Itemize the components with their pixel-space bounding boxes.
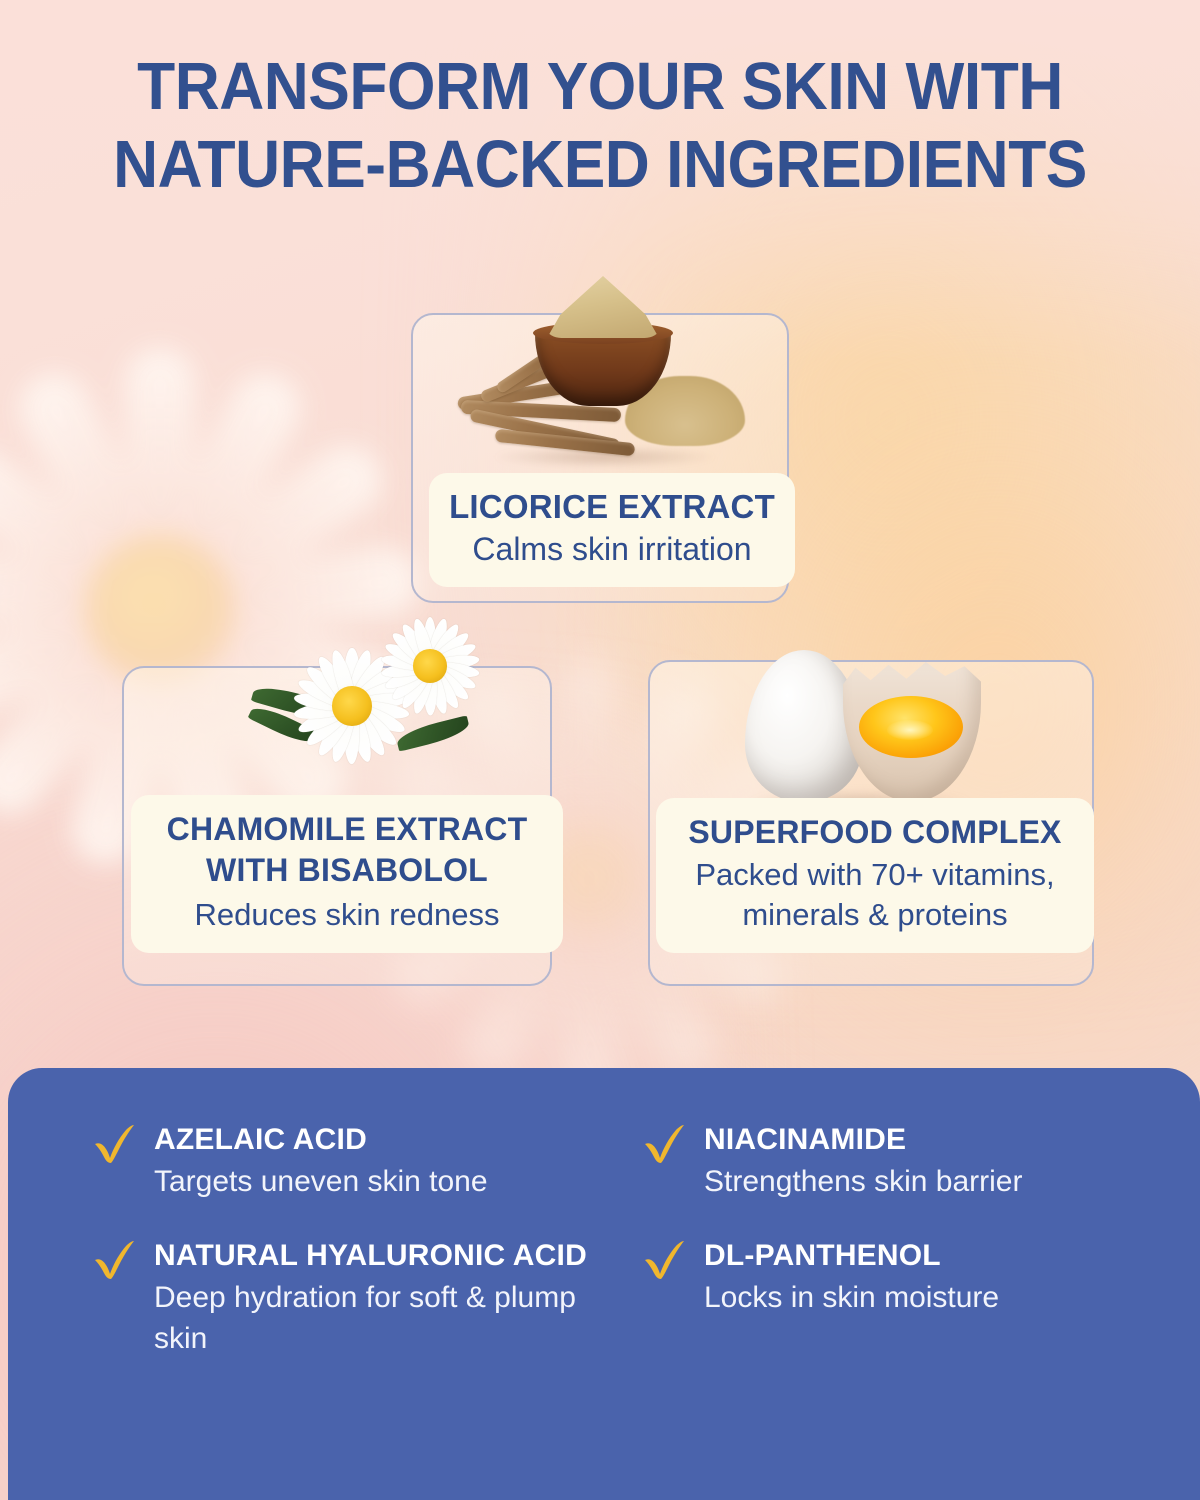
licorice-root-and-powder-image <box>455 268 745 483</box>
benefit-name: NIACINAMIDE <box>704 1120 1144 1160</box>
checkmark-icon <box>92 1124 136 1164</box>
chamomile-flowers-image <box>246 600 506 785</box>
caption-plate-chamomile: CHAMOMILE EXTRACT WITH BISABOLOL Reduces… <box>131 795 563 953</box>
infographic-root: TRANSFORM YOUR SKIN WITH NATURE-BACKED I… <box>0 0 1200 1500</box>
benefit-item-natural-hyaluronic-acid: NATURAL HYALURONIC ACID Deep hydration f… <box>92 1236 594 1359</box>
benefits-grid: AZELAIC ACID Targets uneven skin tone NI… <box>92 1120 1144 1359</box>
benefit-item-niacinamide: NIACINAMIDE Strengthens skin barrier <box>642 1120 1144 1202</box>
card-title-licorice: LICORICE EXTRACT <box>445 487 779 527</box>
benefits-panel: AZELAIC ACID Targets uneven skin tone NI… <box>8 1068 1200 1500</box>
page-title: TRANSFORM YOUR SKIN WITH NATURE-BACKED I… <box>42 48 1158 204</box>
benefit-description: Targets uneven skin tone <box>154 1161 594 1202</box>
benefit-description: Locks in skin moisture <box>704 1277 1144 1318</box>
benefit-item-azelaic-acid: AZELAIC ACID Targets uneven skin tone <box>92 1120 594 1202</box>
card-title-chamomile: CHAMOMILE EXTRACT WITH BISABOLOL <box>147 809 547 891</box>
benefit-name: AZELAIC ACID <box>154 1120 594 1160</box>
benefit-name: NATURAL HYALURONIC ACID <box>154 1236 594 1276</box>
benefit-name: DL-PANTHENOL <box>704 1236 1144 1276</box>
checkmark-icon <box>92 1240 136 1280</box>
card-title-superfood: SUPERFOOD COMPLEX <box>672 812 1078 853</box>
card-description-chamomile: Reduces skin redness <box>147 894 547 935</box>
checkmark-icon <box>642 1240 686 1280</box>
benefit-description: Deep hydration for soft & plump skin <box>154 1277 594 1359</box>
card-description-superfood: Packed with 70+ vitamins, minerals & pro… <box>672 855 1078 935</box>
caption-plate-licorice: LICORICE EXTRACT Calms skin irritation <box>429 473 795 587</box>
caption-plate-superfood: SUPERFOOD COMPLEX Packed with 70+ vitami… <box>656 798 1094 953</box>
benefit-item-dl-panthenol: DL-PANTHENOL Locks in skin moisture <box>642 1236 1144 1359</box>
benefit-description: Strengthens skin barrier <box>704 1161 1144 1202</box>
checkmark-icon <box>642 1124 686 1164</box>
card-description-licorice: Calms skin irritation <box>445 529 779 569</box>
